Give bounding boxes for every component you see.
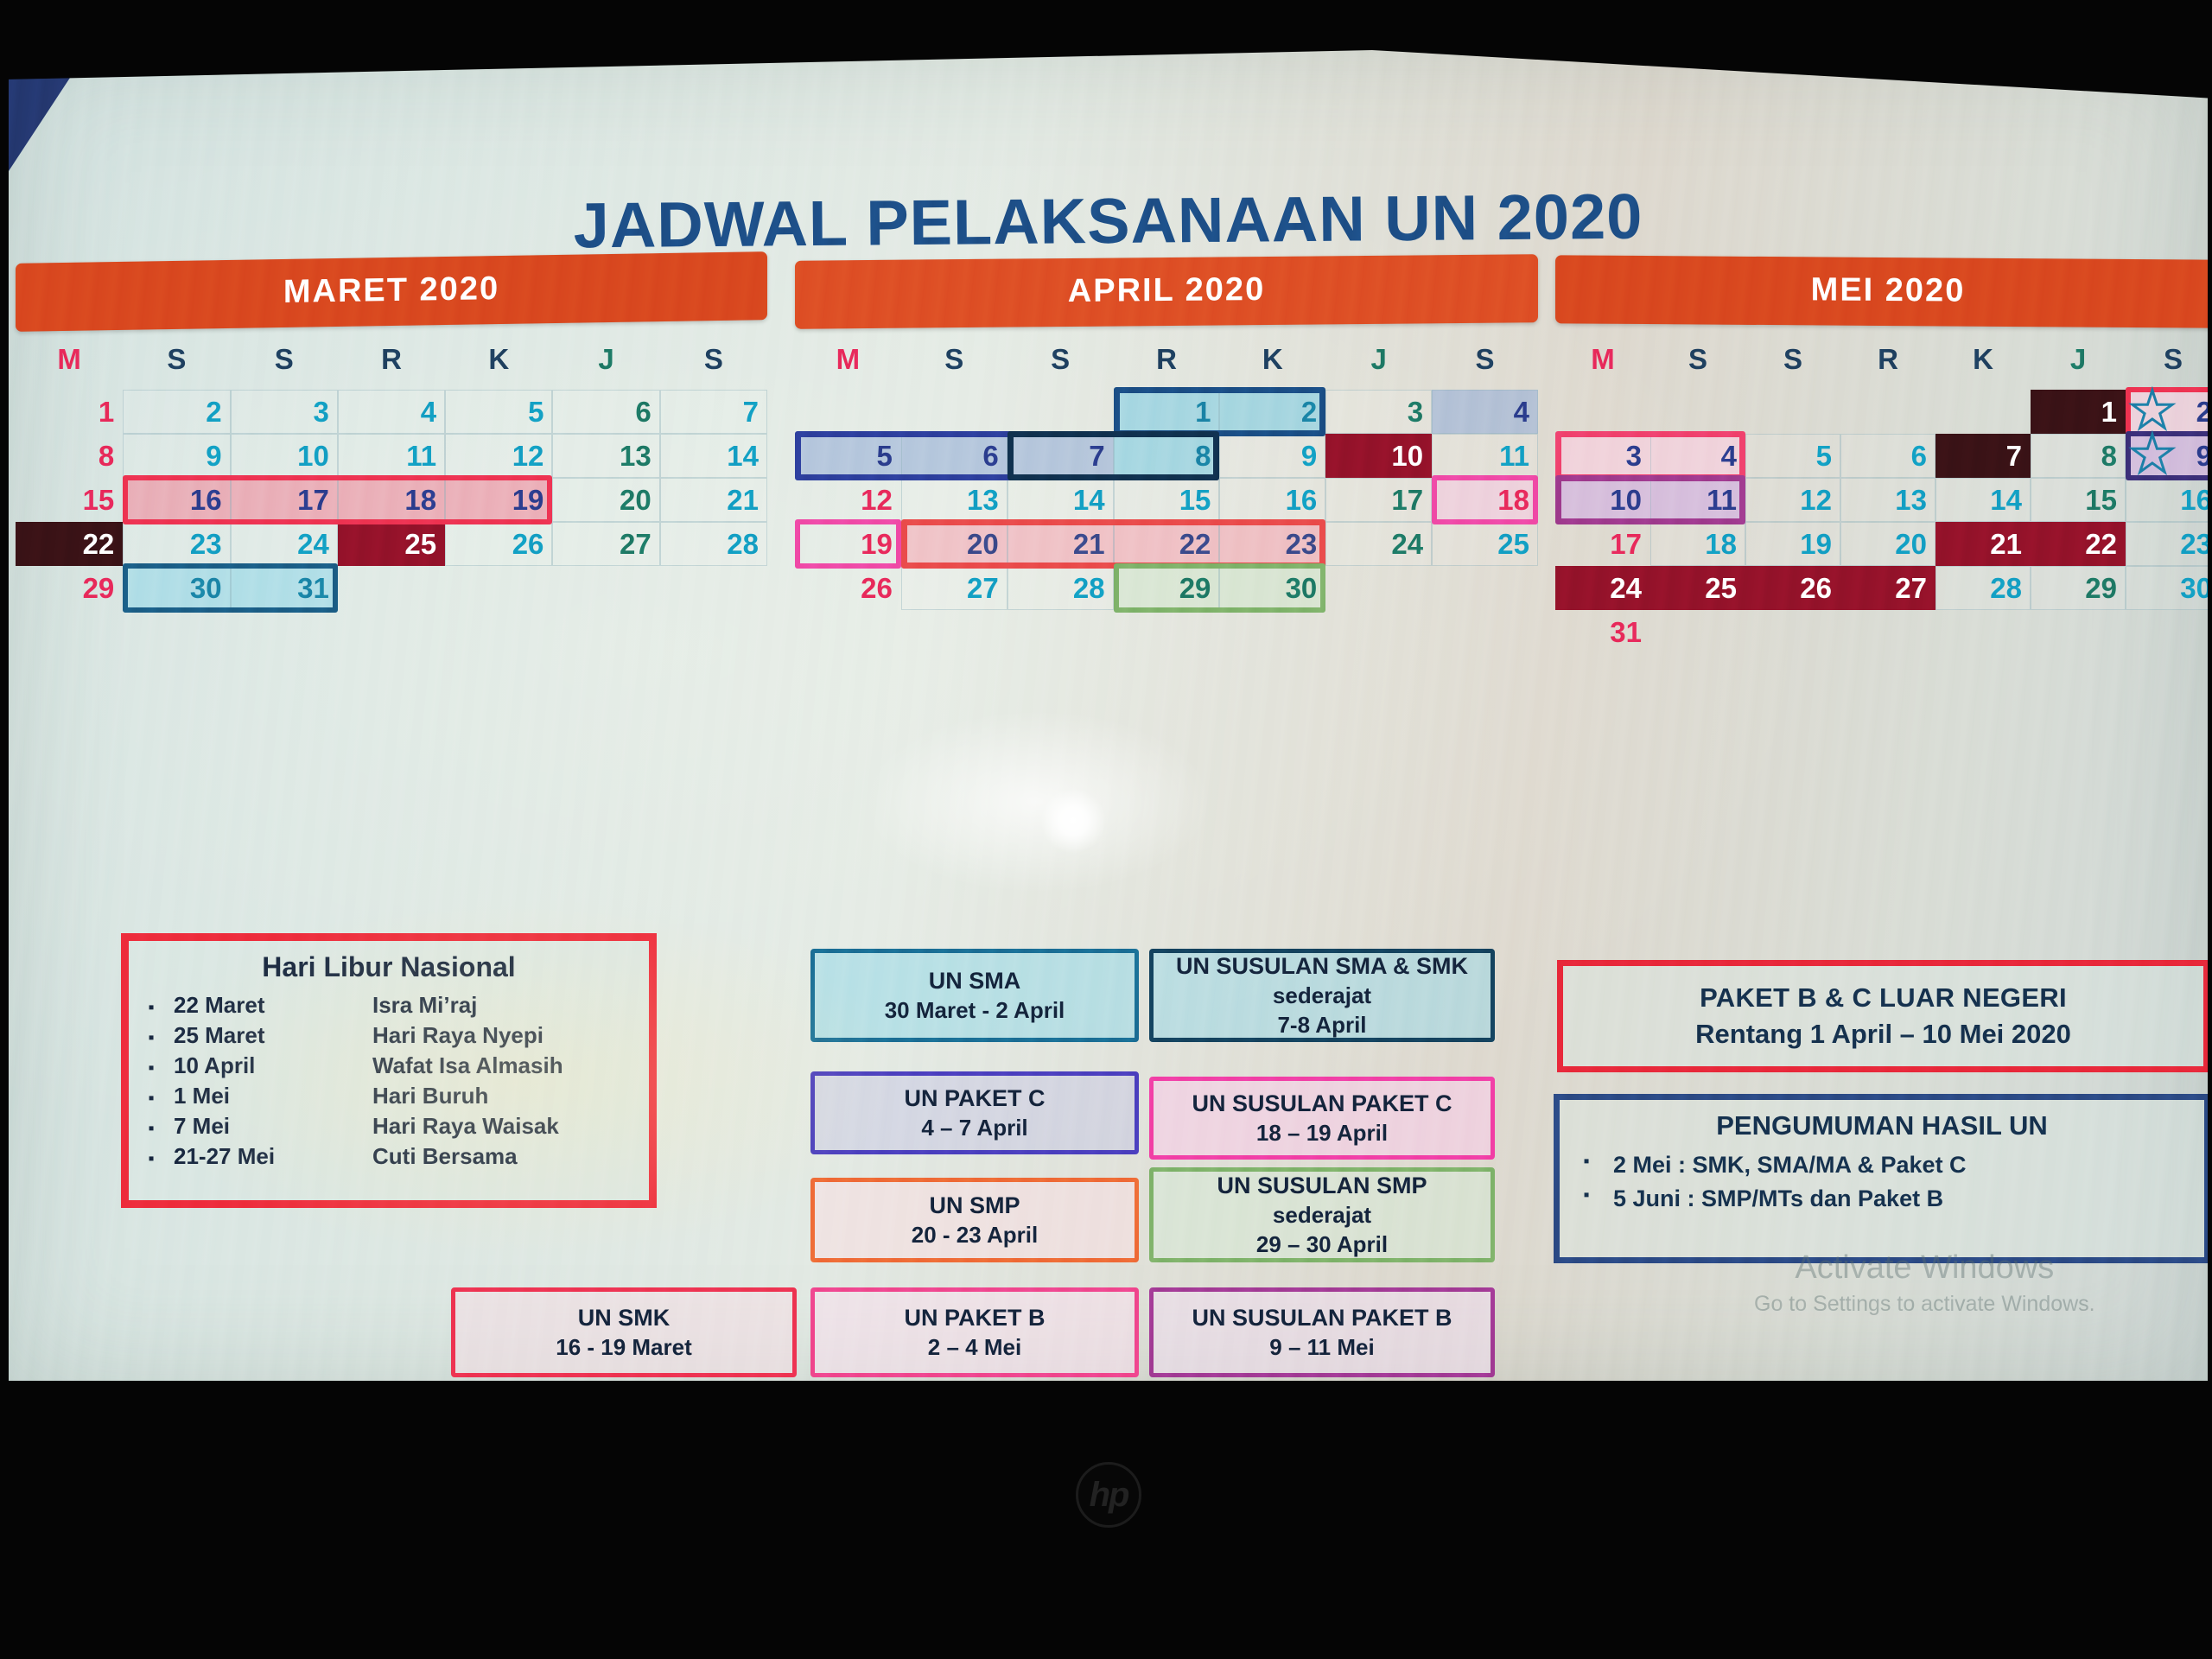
calendar-cell-mei-10[interactable]: 10 [1555, 478, 1650, 522]
calendar-cell-april-28[interactable]: 28 [1007, 566, 1114, 610]
legend-dates: 9 – 11 Mei [1269, 1333, 1374, 1363]
holiday-date: 22 Maret [174, 992, 372, 1019]
pengumuman-text: 2 Mei : SMK, SMA/MA & Paket C [1613, 1152, 2204, 1179]
calendar-cell-maret-5[interactable]: 5 [445, 390, 552, 434]
month-column-maret: MARET 2020 MSSRKJS 123456789101112131415… [16, 257, 767, 610]
calendar-cell-mei-21[interactable]: 21 [1935, 522, 2031, 566]
calendar-cell-maret-9[interactable]: 9 [123, 434, 230, 478]
un-susulan-smp-box[interactable]: UN SUSULAN SMPsederajat29 – 30 April [1149, 1167, 1495, 1262]
calendar-cell-april-1[interactable]: 1 [1114, 390, 1220, 434]
dow-label-4: K [1219, 343, 1325, 376]
watermark-line-2: Go to Settings to activate Windows. [1754, 1292, 2095, 1317]
holiday-name: Cuti Bersama [372, 1143, 649, 1170]
calendar-cell-mei-27[interactable]: 27 [1840, 566, 1935, 610]
calendar-cell-mei-26[interactable]: 26 [1745, 566, 1840, 610]
un-smp-box[interactable]: UN SMP20 - 23 April [810, 1178, 1139, 1262]
dow-label-6: S [660, 343, 767, 376]
calendar-cell-mei-2[interactable]: 2 [2126, 390, 2212, 434]
holiday-panel-title: Hari Libur Nasional [129, 951, 649, 983]
un-susulan-sma-smk-box[interactable]: UN SUSULAN SMA & SMKsederajat7-8 April [1149, 949, 1495, 1042]
holiday-date: 21-27 Mei [174, 1143, 372, 1170]
dow-label-2: S [1745, 343, 1840, 376]
calendar-cell-mei-9[interactable]: 9 [2126, 434, 2212, 478]
un-sma-box[interactable]: UN SMA30 Maret - 2 April [810, 949, 1139, 1042]
un-paket-b-box[interactable]: UN PAKET B2 – 4 Mei [810, 1287, 1139, 1377]
calendar-cell-maret-18[interactable]: 18 [338, 478, 445, 522]
legend-dates: 29 – 30 April [1256, 1230, 1388, 1260]
holiday-item: ▪21-27 MeiCuti Bersama [129, 1141, 649, 1172]
month-header-mei: MEI 2020 [1555, 255, 2212, 327]
pengumuman-title: PENGUMUMAN HASIL UN [1560, 1110, 2204, 1141]
calendar-cell-mei-24[interactable]: 24 [1555, 566, 1650, 610]
dow-label-5: J [2031, 343, 2126, 376]
dow-label-2: S [231, 343, 338, 376]
dow-label-6: S [2126, 343, 2212, 376]
dow-label-5: J [1325, 343, 1432, 376]
calendar-cell-april-27[interactable]: 27 [901, 566, 1007, 610]
calendar-cell-april-19[interactable]: 19 [795, 522, 901, 566]
un-paket-c-box[interactable]: UN PAKET C4 – 7 April [810, 1071, 1139, 1154]
legend-title: UN SUSULAN SMP [1217, 1171, 1427, 1201]
calendar-cell-april-17[interactable]: 17 [1325, 478, 1432, 522]
calendar-grid-mei: 1234567891011121314151617181920212223242… [1555, 390, 2212, 654]
calendar-cell-mei-7[interactable]: 7 [1935, 434, 2031, 478]
calendar-cell-april-7[interactable]: 7 [1007, 434, 1114, 478]
calendar-cell-maret-26[interactable]: 26 [445, 522, 552, 566]
legend-subtitle: sederajat [1273, 982, 1371, 1011]
glare-hotspot [1041, 789, 1105, 853]
calendar-cell-mei-15[interactable]: 15 [2031, 478, 2126, 522]
calendar-cell-maret-28[interactable]: 28 [660, 522, 767, 566]
photo-frame: JADWAL PELAKSANAAN UN 2020 MARET 2020 MS… [0, 0, 2212, 1659]
legend-dates: 7-8 April [1277, 1011, 1366, 1040]
calendar-cell-maret-8[interactable]: 8 [16, 434, 123, 478]
calendar-cell-april-14[interactable]: 14 [1007, 478, 1114, 522]
calendar-cell-mei-14[interactable]: 14 [1935, 478, 2031, 522]
calendar-cell-mei-22[interactable]: 22 [2031, 522, 2126, 566]
calendar-cell-mei-8[interactable]: 8 [2031, 434, 2126, 478]
holiday-date: 25 Maret [174, 1022, 372, 1049]
holiday-item: ▪1 MeiHari Buruh [129, 1081, 649, 1111]
calendar-cell-april-2[interactable]: 2 [1219, 390, 1325, 434]
calendar-cell-empty [1745, 390, 1840, 434]
calendar-cell-maret-27[interactable]: 27 [552, 522, 659, 566]
pengumuman-item: ▪2 Mei : SMK, SMA/MA & Paket C [1560, 1148, 2204, 1182]
calendar-cell-maret-2[interactable]: 2 [123, 390, 230, 434]
paket-luar-negeri-panel: PAKET B & C LUAR NEGERI Rentang 1 April … [1557, 960, 2209, 1072]
un-susulan-paket-b-box[interactable]: UN SUSULAN PAKET B9 – 11 Mei [1149, 1287, 1495, 1377]
calendar-cell-maret-6[interactable]: 6 [552, 390, 659, 434]
holiday-item: ▪10 AprilWafat Isa Almasih [129, 1051, 649, 1081]
calendar-cell-mei-3[interactable]: 3 [1555, 434, 1650, 478]
bullet-icon: ▪ [129, 1058, 174, 1078]
paket-luar-title: PAKET B & C LUAR NEGERI [1700, 982, 2067, 1014]
calendar-cell-april-3[interactable]: 3 [1325, 390, 1432, 434]
calendar-cell-empty [1650, 390, 1745, 434]
dow-label-2: S [1007, 343, 1114, 376]
dow-label-1: S [1650, 343, 1745, 376]
holiday-item: ▪25 MaretHari Raya Nyepi [129, 1020, 649, 1051]
calendar-cell-maret-23[interactable]: 23 [123, 522, 230, 566]
calendar-cell-mei-30[interactable]: 30 [2126, 566, 2212, 610]
calendar-cell-maret-3[interactable]: 3 [231, 390, 338, 434]
dow-label-3: R [338, 343, 445, 376]
calendar-cell-maret-14[interactable]: 14 [660, 434, 767, 478]
calendar-cell-maret-11[interactable]: 11 [338, 434, 445, 478]
calendar-cell-april-22[interactable]: 22 [1114, 522, 1220, 566]
un-smk-box[interactable]: UN SMK16 - 19 Maret [451, 1287, 797, 1377]
calendar-cell-maret-10[interactable]: 10 [231, 434, 338, 478]
legend-dates: 16 - 19 Maret [556, 1333, 692, 1363]
holiday-date: 7 Mei [174, 1113, 372, 1140]
calendar-cell-empty [795, 390, 901, 434]
calendar-cell-april-12[interactable]: 12 [795, 478, 901, 522]
calendar-cell-april-16[interactable]: 16 [1219, 478, 1325, 522]
calendar-cell-maret-21[interactable]: 21 [660, 478, 767, 522]
calendar-cell-april-21[interactable]: 21 [1007, 522, 1114, 566]
dow-label-0: M [1555, 343, 1650, 376]
pengumuman-list: ▪2 Mei : SMK, SMA/MA & Paket C▪5 Juni : … [1560, 1148, 2204, 1216]
calendar-cell-mei-23[interactable]: 23 [2126, 522, 2212, 566]
projected-slide: JADWAL PELAKSANAAN UN 2020 MARET 2020 MS… [9, 50, 2208, 1381]
holiday-list: ▪22 MaretIsra Mi’raj▪25 MaretHari Raya N… [129, 990, 649, 1172]
calendar-cell-maret-25[interactable]: 25 [338, 522, 445, 566]
un-susulan-paket-c-box[interactable]: UN SUSULAN PAKET C18 – 19 April [1149, 1077, 1495, 1160]
legend-title: UN SMK [578, 1303, 671, 1333]
calendar-cell-maret-31[interactable]: 31 [231, 566, 338, 610]
dow-label-0: M [16, 343, 123, 376]
calendar-cell-maret-15[interactable]: 15 [16, 478, 123, 522]
legend-subtitle: sederajat [1273, 1201, 1371, 1230]
calendar-cell-empty [1935, 390, 2031, 434]
legend-dates: 4 – 7 April [921, 1114, 1027, 1143]
bullet-icon: ▪ [1560, 1185, 1613, 1212]
calendar-cell-mei-18[interactable]: 18 [1650, 522, 1745, 566]
calendar-cell-mei-25[interactable]: 25 [1650, 566, 1745, 610]
bullet-icon: ▪ [129, 998, 174, 1018]
bullet-icon: ▪ [1560, 1152, 1613, 1179]
calendar-cell-maret-30[interactable]: 30 [123, 566, 230, 610]
dow-row-april: MSSRKJS [795, 343, 1538, 376]
calendar-cell-mei-20[interactable]: 20 [1840, 522, 1935, 566]
calendar-cell-april-11[interactable]: 11 [1432, 434, 1538, 478]
calendar-cell-maret-20[interactable]: 20 [552, 478, 659, 522]
page-title: JADWAL PELAKSANAAN UN 2020 [9, 175, 2209, 267]
calendar-cell-april-13[interactable]: 13 [901, 478, 1007, 522]
legend-title: UN SUSULAN PAKET B [1192, 1303, 1452, 1333]
calendar-cell-april-25[interactable]: 25 [1432, 522, 1538, 566]
calendar-cell-maret-7[interactable]: 7 [660, 390, 767, 434]
calendar-cell-maret-19[interactable]: 19 [445, 478, 552, 522]
calendar-cell-maret-17[interactable]: 17 [231, 478, 338, 522]
legend-title: UN PAKET B [904, 1303, 1045, 1333]
dow-label-5: J [552, 343, 659, 376]
holiday-name: Hari Raya Nyepi [372, 1022, 649, 1049]
legend-dates: 30 Maret - 2 April [885, 996, 1065, 1026]
calendar-cell-maret-1[interactable]: 1 [16, 390, 123, 434]
dow-label-3: R [1114, 343, 1220, 376]
calendar-cell-maret-29[interactable]: 29 [16, 566, 123, 610]
calendar-cell-april-29[interactable]: 29 [1114, 566, 1220, 610]
calendar-cell-mei-13[interactable]: 13 [1840, 478, 1935, 522]
holiday-name: Hari Buruh [372, 1083, 649, 1109]
bullet-icon: ▪ [129, 1149, 174, 1169]
dow-label-4: K [1935, 343, 2031, 376]
national-holidays-panel: Hari Libur Nasional ▪22 MaretIsra Mi’raj… [121, 933, 657, 1208]
calendar-cell-april-4[interactable]: 4 [1432, 390, 1538, 434]
corner-decoration [9, 50, 88, 171]
calendar-cell-april-24[interactable]: 24 [1325, 522, 1432, 566]
legend-title: UN SMP [929, 1191, 1020, 1221]
legend-dates: 18 – 19 April [1256, 1119, 1388, 1148]
calendar-cell-mei-12[interactable]: 12 [1745, 478, 1840, 522]
holiday-item: ▪7 MeiHari Raya Waisak [129, 1111, 649, 1141]
holiday-name: Hari Raya Waisak [372, 1113, 649, 1140]
dow-label-4: K [445, 343, 552, 376]
calendar-cell-april-6[interactable]: 6 [901, 434, 1007, 478]
calendar-cell-april-23[interactable]: 23 [1219, 522, 1325, 566]
calendar-cell-april-26[interactable]: 26 [795, 566, 901, 610]
calendar-cell-april-9[interactable]: 9 [1219, 434, 1325, 478]
calendar-grid-maret: 1234567891011121314151617181920212223242… [16, 390, 767, 610]
holiday-name: Wafat Isa Almasih [372, 1052, 649, 1079]
calendar-cell-empty [1555, 390, 1650, 434]
calendar-cell-april-30[interactable]: 30 [1219, 566, 1325, 610]
calendar-cell-april-20[interactable]: 20 [901, 522, 1007, 566]
legend-dates: 20 - 23 April [912, 1221, 1038, 1250]
calendar-cell-mei-29[interactable]: 29 [2031, 566, 2126, 610]
pengumuman-text: 5 Juni : SMP/MTs dan Paket B [1613, 1185, 2204, 1212]
month-column-april: APRIL 2020 MSSRKJS 123456789101112131415… [795, 257, 1538, 610]
holiday-date: 10 April [174, 1052, 372, 1079]
calendar-cell-empty [1007, 390, 1114, 434]
calendar-cell-empty [901, 390, 1007, 434]
dow-label-3: R [1840, 343, 1935, 376]
legend-dates: 2 – 4 Mei [928, 1333, 1021, 1363]
calendar-cell-maret-13[interactable]: 13 [552, 434, 659, 478]
calendar-grid-april: 1234567891011121314151617181920212223242… [795, 390, 1538, 610]
calendar-cell-mei-1[interactable]: 1 [2031, 390, 2126, 434]
glare-bright [855, 707, 1218, 897]
legend-title: UN PAKET C [904, 1084, 1045, 1114]
dow-row-mei: MSSRKJS [1555, 343, 2212, 376]
holiday-date: 1 Mei [174, 1083, 372, 1109]
legend-title: UN SUSULAN SMA & SMK [1176, 951, 1468, 982]
pengumuman-panel: PENGUMUMAN HASIL UN ▪2 Mei : SMK, SMA/MA… [1554, 1094, 2210, 1263]
calendar-cell-mei-5[interactable]: 5 [1745, 434, 1840, 478]
pengumuman-item: ▪5 Juni : SMP/MTs dan Paket B [1560, 1182, 2204, 1216]
bullet-icon: ▪ [129, 1028, 174, 1048]
calendar-cell-mei-28[interactable]: 28 [1935, 566, 2031, 610]
paket-luar-range: Rentang 1 April – 10 Mei 2020 [1695, 1019, 2071, 1050]
bullet-icon: ▪ [129, 1089, 174, 1109]
dow-row-maret: MSSRKJS [16, 343, 767, 376]
legend-title: UN SMA [929, 966, 1021, 996]
month-header-april: APRIL 2020 [795, 254, 1538, 329]
calendar-cell-april-5[interactable]: 5 [795, 434, 901, 478]
calendar-cell-maret-22[interactable]: 22 [16, 522, 123, 566]
calendar-cell-mei-16[interactable]: 16 [2126, 478, 2212, 522]
calendar-cell-maret-24[interactable]: 24 [231, 522, 338, 566]
calendar-cell-april-8[interactable]: 8 [1114, 434, 1220, 478]
dow-label-1: S [123, 343, 230, 376]
calendar-cell-maret-16[interactable]: 16 [123, 478, 230, 522]
calendar-cell-april-10[interactable]: 10 [1325, 434, 1432, 478]
calendar-cell-maret-12[interactable]: 12 [445, 434, 552, 478]
calendar-cell-empty [1840, 390, 1935, 434]
dow-label-1: S [901, 343, 1007, 376]
calendar-cell-maret-4[interactable]: 4 [338, 390, 445, 434]
calendar-cell-mei-19[interactable]: 19 [1745, 522, 1840, 566]
legend-title: UN SUSULAN PAKET C [1192, 1089, 1452, 1119]
calendar-cell-mei-6[interactable]: 6 [1840, 434, 1935, 478]
calendar-cell-mei-4[interactable]: 4 [1650, 434, 1745, 478]
holiday-name: Isra Mi’raj [372, 992, 649, 1019]
bullet-icon: ▪ [129, 1119, 174, 1139]
calendar-cell-april-18[interactable]: 18 [1432, 478, 1538, 522]
dow-label-0: M [795, 343, 901, 376]
dow-label-6: S [1432, 343, 1538, 376]
hp-logo: hp [1076, 1462, 1141, 1528]
calendar-cell-april-15[interactable]: 15 [1114, 478, 1220, 522]
calendar-cell-mei-31[interactable]: 31 [1555, 610, 1650, 654]
holiday-item: ▪22 MaretIsra Mi’raj [129, 990, 649, 1020]
month-column-mei: MEI 2020 MSSRKJS 12345678910111213141516… [1555, 257, 2212, 654]
month-header-maret: MARET 2020 [16, 251, 767, 332]
calendar-cell-mei-11[interactable]: 11 [1650, 478, 1745, 522]
calendar-cell-mei-17[interactable]: 17 [1555, 522, 1650, 566]
